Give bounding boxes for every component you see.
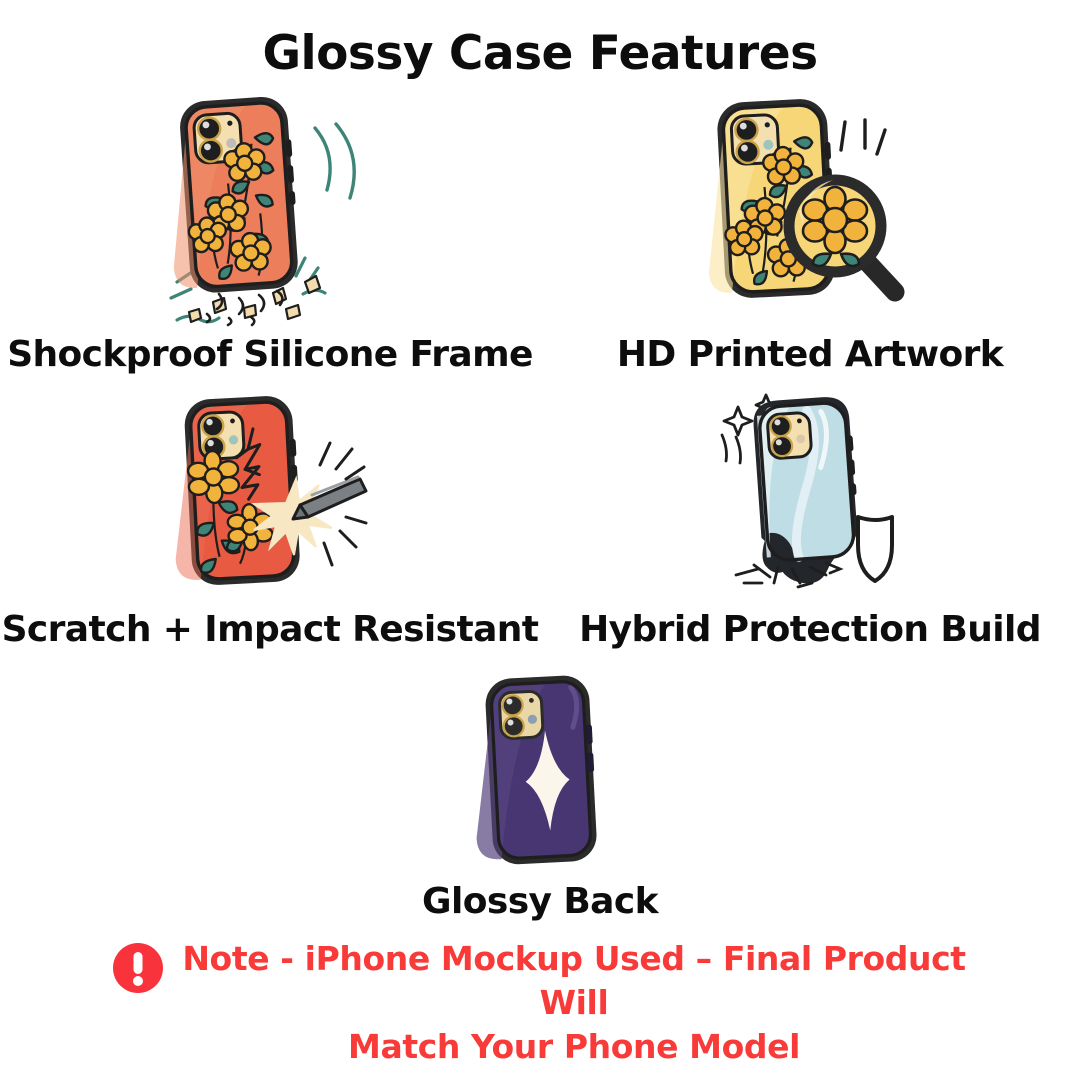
camera-module [767,413,812,460]
illustration-phone-blue-shield-tpu [700,387,920,597]
shine-ticks [841,120,885,154]
phone-body [162,95,301,295]
feature-glossy-back: Glossy Back [0,659,1080,921]
feature-infographic: Glossy Case Features [0,0,1080,1080]
feature-label: Glossy Back [422,883,658,921]
illustration-phone-yellow-flowers-magnifier [695,86,925,322]
exclamation-circle-icon [111,941,165,995]
feature-hybrid-protection-build: Hybrid Protection Build [540,387,1080,649]
shield-icon [858,517,892,581]
camera-module [499,691,543,739]
phone-body [468,675,599,867]
illustration-phone-purple-sparkle [455,659,625,869]
feature-label: Hybrid Protection Build [579,611,1041,649]
note-line-1: Note - iPhone Mockup Used – Final Produc… [182,939,965,1022]
illustration-phone-red-crack-blade [160,387,380,597]
note-bar: Note - iPhone Mockup Used – Final Produc… [40,937,1040,1069]
feature-shockproof-silicone-frame: Shockproof Silicone Frame [0,86,540,374]
motion-arcs [315,124,354,198]
illustration-phone-coral-flowers-impact [155,86,385,322]
feature-hd-printed-artwork: HD Printed Artwork [540,86,1080,374]
feature-label: Shockproof Silicone Frame [7,336,533,374]
phone-body [167,395,303,587]
feature-label: HD Printed Artwork [617,336,1003,374]
note-text: Note - iPhone Mockup Used – Final Produc… [179,937,969,1069]
feature-label: Scratch + Impact Resistant [2,611,539,649]
page-title: Glossy Case Features [262,28,817,80]
camera-module [198,412,244,460]
note-line-2: Match Your Phone Model [179,1025,969,1069]
features-row-3: Glossy Back [0,659,1080,921]
features-row-1: Shockproof Silicone Frame [0,86,1080,374]
phone-body [752,396,863,587]
feature-scratch-impact-resistant: Scratch + Impact Resistant [0,387,540,649]
features-row-2: Scratch + Impact Resistant [0,387,1080,649]
